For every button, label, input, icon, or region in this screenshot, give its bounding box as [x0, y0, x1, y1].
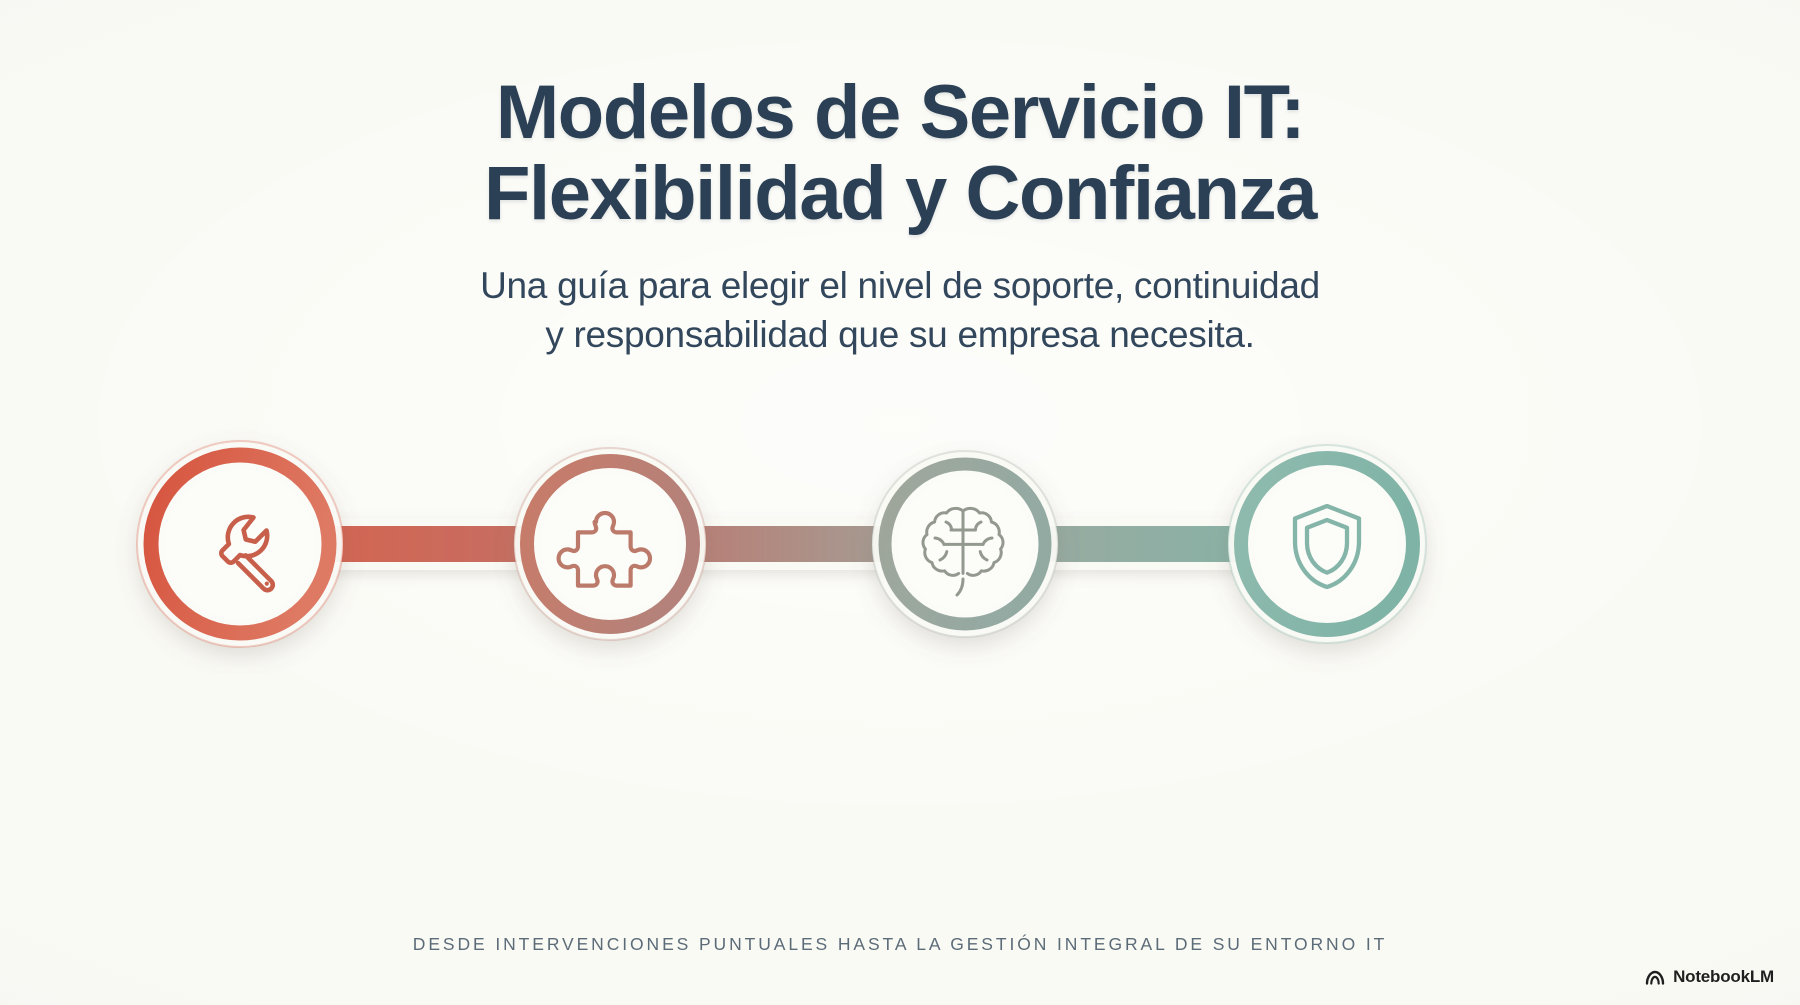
- chain-node-shield[interactable]: [1228, 445, 1426, 643]
- title-line-2: Flexibilidad y Confianza: [0, 153, 1800, 234]
- slide-header: Modelos de Servicio IT: Flexibilidad y C…: [0, 0, 1800, 360]
- chain-node-wrench[interactable]: [137, 441, 343, 647]
- page-title: Modelos de Servicio IT: Flexibilidad y C…: [0, 72, 1800, 235]
- notebooklm-watermark: NotebookLM: [1644, 967, 1774, 987]
- chain-node-brain[interactable]: [872, 451, 1058, 637]
- chain-connectors: [230, 518, 1340, 570]
- title-line-1: Modelos de Servicio IT:: [0, 72, 1800, 153]
- notebooklm-label: NotebookLM: [1673, 967, 1774, 987]
- subtitle-line-2: y responsabilidad que su empresa necesit…: [0, 310, 1800, 360]
- slide-caption: DESDE INTERVENCIONES PUNTUALES HASTA LA …: [0, 934, 1800, 955]
- chain-node-puzzle[interactable]: [514, 448, 706, 640]
- page-subtitle: Una guía para elegir el nivel de soporte…: [0, 261, 1800, 360]
- chain-svg: [0, 414, 1800, 674]
- node-inner-2: [541, 475, 679, 613]
- node-inner-1: [166, 470, 314, 618]
- process-chain-diagram: [0, 414, 1800, 674]
- notebooklm-logo-icon: [1644, 967, 1666, 987]
- slide-canvas: Modelos de Servicio IT: Flexibilidad y C…: [0, 0, 1800, 1005]
- subtitle-line-1: Una guía para elegir el nivel de soporte…: [0, 261, 1800, 311]
- node-inner-4: [1255, 472, 1399, 616]
